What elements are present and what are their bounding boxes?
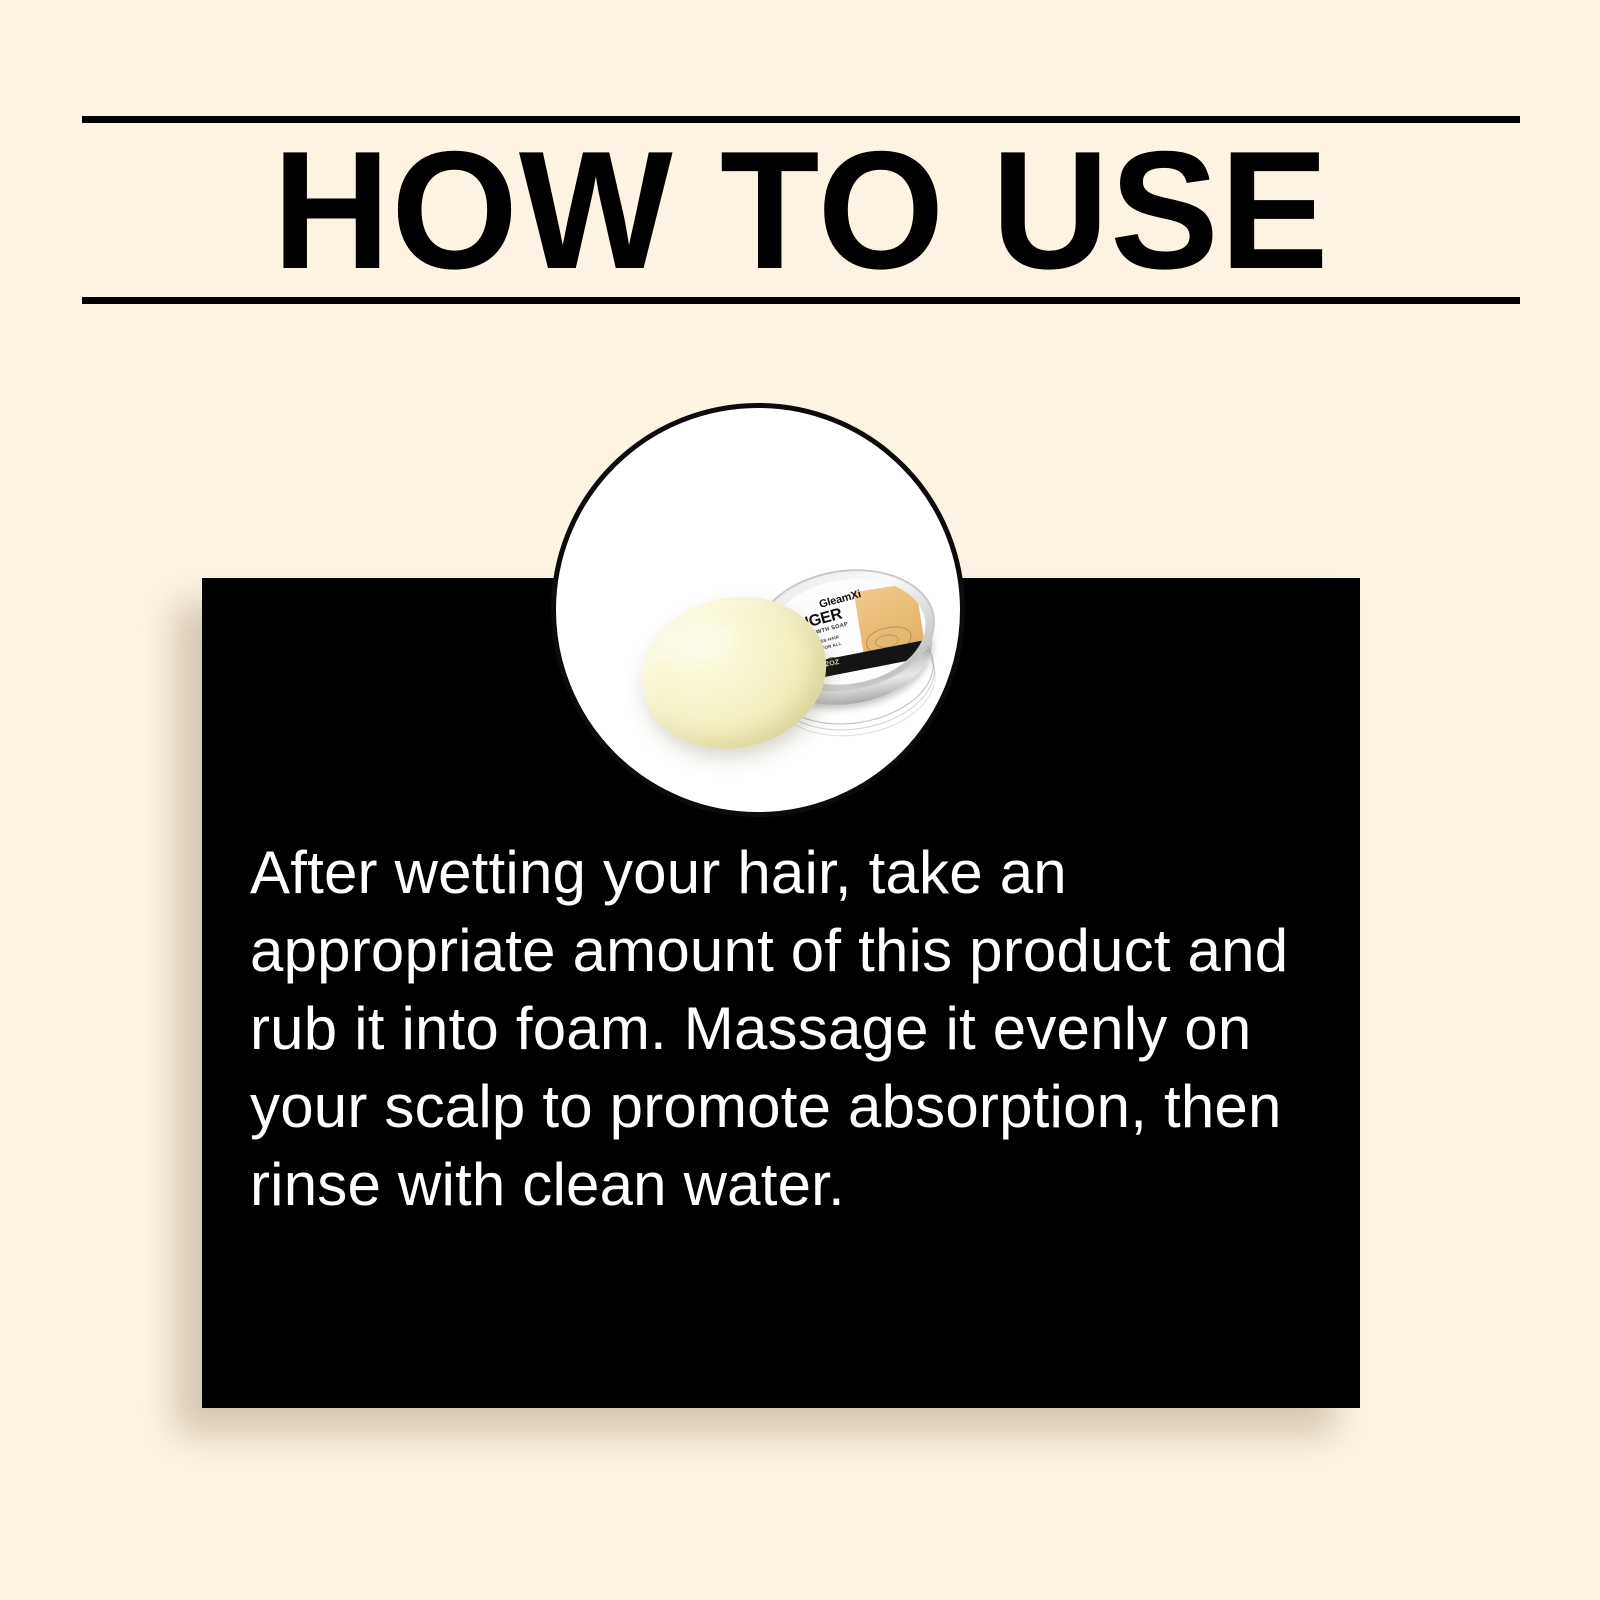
product-image: GleamXi GINGER HAIR GROWTH SOAP PUTURE H… (556, 408, 965, 817)
poster-canvas: HOW TO USE After wetting your hair, take… (0, 0, 1600, 1600)
header: HOW TO USE (82, 116, 1520, 304)
product-photo-circle: GleamXi GINGER HAIR GROWTH SOAP PUTURE H… (551, 403, 965, 817)
instructions-text: After wetting your hair, take an appropr… (250, 834, 1290, 1224)
page-title: HOW TO USE (104, 122, 1499, 298)
header-rule-bottom (82, 297, 1520, 304)
